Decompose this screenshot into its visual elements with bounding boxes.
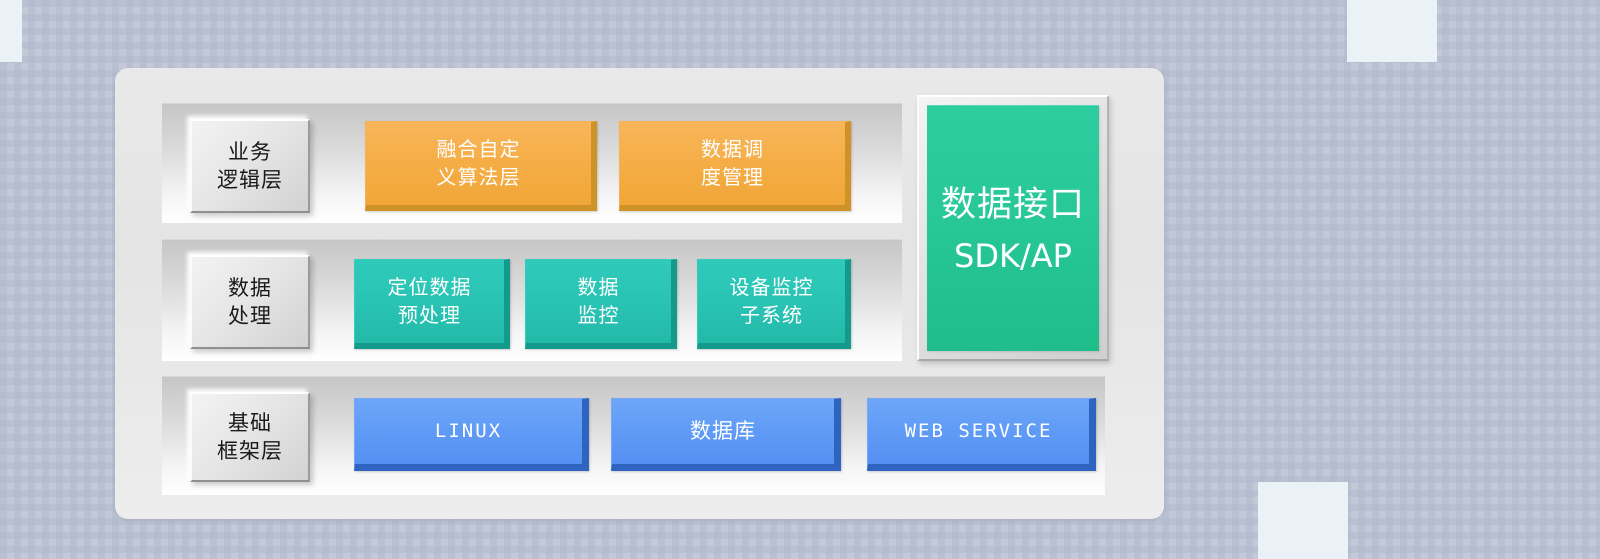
block-fusion-custom-algorithm[interactable]: 融合自定 义算法层: [365, 121, 597, 211]
layer-row-business: 业务 逻辑层 融合自定 义算法层 数据调 度管理: [162, 103, 902, 223]
block-linux[interactable]: LINUX: [354, 398, 589, 471]
tinted-grid-cell: [1347, 0, 1437, 62]
block-line1: 数据调: [701, 136, 764, 163]
data-interface-subtitle: SDK/AP: [954, 237, 1072, 275]
layer-label-line1: 数据: [228, 274, 272, 302]
block-line1: 数据库: [690, 417, 756, 446]
tinted-grid-cell: [1258, 482, 1348, 559]
architecture-outer-frame: 业务 逻辑层 融合自定 义算法层 数据调 度管理 数据 处理 定位数据 预处理: [115, 68, 1164, 519]
layer-label-line2: 框架层: [217, 437, 283, 465]
layer-label-line2: 处理: [228, 302, 272, 330]
block-data-monitoring[interactable]: 数据 监控: [525, 259, 677, 349]
block-positioning-data-preprocessing[interactable]: 定位数据 预处理: [354, 259, 510, 349]
block-line1: 融合自定: [437, 136, 521, 163]
block-line1: LINUX: [435, 419, 502, 445]
layer-label-business: 业务 逻辑层: [190, 119, 310, 213]
block-line1: 数据: [578, 274, 620, 301]
block-line2: 预处理: [398, 302, 461, 329]
block-line1: WEB SERVICE: [905, 419, 1053, 445]
data-interface-frame: 数据接口 SDK/AP: [917, 95, 1109, 361]
block-line2: 子系统: [740, 302, 803, 329]
block-line2: 义算法层: [437, 164, 521, 191]
layer-label-line1: 业务: [228, 138, 272, 166]
layer-label-infrastructure: 基础 框架层: [190, 392, 310, 482]
layer-row-infrastructure: 基础 框架层 LINUX 数据库 WEB SERVICE: [162, 376, 1105, 495]
data-interface-title: 数据接口: [939, 181, 1087, 231]
layer-label-line2: 逻辑层: [217, 166, 283, 194]
block-line1: 定位数据: [388, 274, 472, 301]
block-device-monitoring-subsystem[interactable]: 设备监控 子系统: [697, 259, 851, 349]
block-database[interactable]: 数据库: [611, 398, 841, 471]
block-line2: 度管理: [701, 164, 764, 191]
tinted-grid-cell: [0, 0, 22, 62]
block-data-scheduling-management[interactable]: 数据调 度管理: [619, 121, 851, 211]
layer-row-data-processing: 数据 处理 定位数据 预处理 数据 监控 设备监控 子系统: [162, 239, 902, 361]
block-line2: 监控: [578, 302, 620, 329]
block-web-service[interactable]: WEB SERVICE: [867, 398, 1096, 471]
block-line1: 设备监控: [730, 274, 814, 301]
layer-label-line1: 基础: [228, 409, 272, 437]
layer-label-data-processing: 数据 处理: [190, 255, 310, 349]
block-data-interface-sdk-api[interactable]: 数据接口 SDK/AP: [927, 105, 1099, 351]
